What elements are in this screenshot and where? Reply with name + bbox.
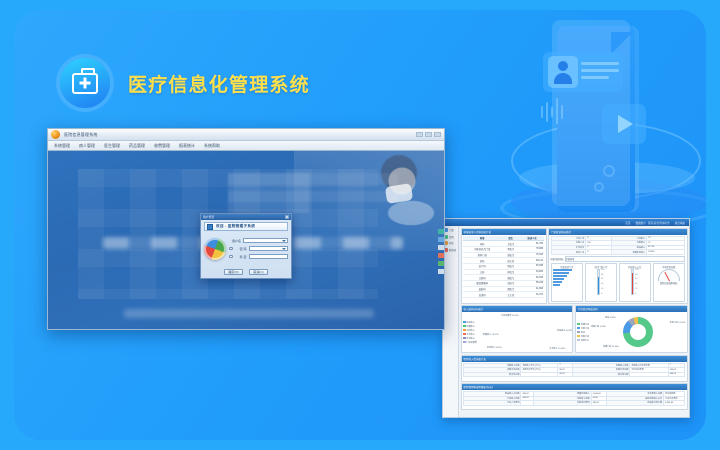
menu-item-system[interactable]: 系统管理 (54, 143, 70, 149)
hospital-icon (207, 224, 213, 230)
legend-item: 检查收入 (463, 325, 477, 328)
kpi-filter-select[interactable]: 全部科室 (565, 256, 685, 262)
decorative-id-card (543, 52, 623, 92)
legend-item: 体检中心 (577, 339, 589, 342)
blue-thermometer-gauge: 当月门诊人次 100 80 60 40 (585, 263, 618, 302)
red-thermometer-gauge: 药品收入占比 100 80 60 40 (619, 263, 652, 302)
department-label: 科 室 (235, 255, 247, 259)
bar-row (553, 278, 582, 280)
bar-row (553, 269, 582, 271)
gauge-footer: 医院运营效率指标 (660, 281, 678, 285)
decorative-wave-bar (556, 98, 558, 124)
legend-item: 特需门诊 (577, 335, 589, 338)
bar-row (553, 284, 582, 286)
decorative-ring (511, 122, 701, 200)
poster-frame: 医疗信息化管理系统 首页 数据统计 · 医院 综合查询平台 退出系统 门诊 住院 (14, 10, 706, 440)
dialog-footer[interactable]: 确定(O) 取消(C) (201, 266, 291, 278)
watermark-text (228, 173, 398, 213)
dashboard-window[interactable]: 首页 数据统计 · 医院 综合查询平台 退出系统 门诊 住院 (442, 218, 690, 418)
bar-row (553, 272, 582, 274)
thermometer-track (597, 269, 600, 295)
page-root: 医疗信息化管理系统 首页 数据统计 · 医院 综合查询平台 退出系统 门诊 住院 (0, 0, 720, 450)
menu-item-doctor[interactable]: 医生管理 (104, 143, 120, 149)
topbar-item-title: 数据统计 · 医院 综合查询平台 (635, 221, 669, 225)
bar-list-gauge: 月度就诊人次 (551, 263, 584, 302)
legend-item: 床位收入 (463, 337, 477, 340)
decorative-wave-bar (551, 107, 553, 117)
pie-label: 药品收入 48.28% (557, 329, 572, 332)
menu-item-help[interactable]: 系统帮助 (204, 143, 220, 149)
windows-orb-icon (204, 238, 226, 260)
brand-header: 医疗信息化管理系统 (60, 58, 310, 108)
sidebar-item-label: 门诊 (449, 228, 454, 232)
panel-visit-donut: 门诊就诊构成分析 普通门诊 专家门诊 急诊 特需门诊 体检中心 (575, 305, 688, 353)
blurred-status-band (124, 309, 374, 318)
dial-face (658, 269, 680, 281)
decorative-wave-bar (541, 106, 543, 118)
table-row: 门诊人次费用 住院床日费用 486,96 药品收支结余额 4,866,86 (464, 401, 685, 406)
right-color-strip (438, 225, 444, 330)
decorative-band (519, 162, 695, 194)
panel-cost-detail: 医院费用构成明细表(万元) 药品收入占比额 486,96 检查化验收入 4,64… (461, 383, 688, 410)
department-input[interactable] (249, 254, 289, 260)
strip-chip (438, 237, 444, 242)
legend-item: 门诊诊查费 (463, 341, 477, 344)
menu-item-billing[interactable]: 收费管理 (154, 143, 170, 149)
kpi-filter-label: 科室化验指标 (551, 257, 564, 261)
username-input[interactable] (243, 238, 288, 244)
decorative-wave-bar (561, 105, 563, 119)
income-detail-table: 本期收入总额 本期收入合计(万元) 9 本期收入总额 本期收入同比增长率 7 本… (463, 363, 685, 378)
kpi-table: 门诊人次 8 门诊收入 78 住院人次 100 住院收入 (551, 236, 686, 255)
menu-item-patient[interactable]: 病人管理 (79, 143, 95, 149)
pie-label: 检查收入 19.47% (483, 333, 499, 336)
decorative-text-line (581, 69, 619, 72)
decorative-dot (603, 165, 615, 177)
legend-item: 药品收入 (463, 321, 477, 324)
field-row-department: 科 室 (229, 254, 288, 260)
strip-chip (438, 245, 444, 250)
strip-chip (438, 229, 444, 234)
pie-label: 手术收入 10.56% (549, 347, 565, 350)
ranking-table: 科室 医生 接诊人次 内科王医生81,786 中医科综合门诊李医生78,980 … (463, 236, 544, 299)
field-row-username: 用户名 (229, 238, 288, 244)
legend-item: 普通门诊 (577, 323, 589, 326)
donut-label: 专家门诊 14.18% (670, 321, 686, 324)
decorative-book-edge (621, 30, 635, 210)
dialog-titlebar[interactable]: 用户登录 (201, 214, 291, 220)
strip-chip (438, 253, 444, 258)
panel-department-ranking: 科室接诊人次排名统计表 科室 医生 接诊人次 内科王医生81, (461, 228, 547, 304)
login-form[interactable]: 用户名 密 码 科 室 (229, 238, 288, 260)
dialog-banner-text: 欢迎 - 医院管理子系统 (216, 224, 255, 229)
app-logo-orb-icon (51, 130, 60, 139)
gauge-scale: 100 80 60 40 20 0 (601, 269, 604, 295)
topbar-item-home[interactable]: 首页 (625, 221, 630, 225)
panel-revenue-pie: 收入结构分布统计 药品收入 检查收入 治疗收入 手术收入 床位收入 门诊诊查费 (461, 305, 574, 353)
dialog-title: 用户登录 (203, 215, 214, 219)
gauge-scale: 100 80 60 40 20 0 (635, 269, 638, 295)
pie-legend: 药品收入 检查收入 治疗收入 手术收入 床位收入 门诊诊查费 (463, 321, 477, 344)
dial-needle (664, 272, 670, 281)
app-menubar[interactable]: 系统管理 病人管理 医生管理 药品管理 收费管理 报表统计 系统帮助 (48, 141, 444, 151)
app-window-title: 医院信息管理系统 (64, 132, 98, 138)
field-row-password: 密 码 (229, 246, 288, 252)
page-title: 医疗信息化管理系统 (128, 70, 310, 97)
menu-item-report[interactable]: 报表统计 (179, 143, 195, 149)
password-label: 密 码 (235, 247, 247, 251)
panel-income-detail: 医院收入情况统计表 本期收入总额 本期收入合计(万元) 9 本期收入总额 本期收… (461, 355, 688, 382)
sidebar-item-lab[interactable]: 检验科 (444, 248, 457, 252)
legend-item: 专家门诊 (577, 327, 589, 330)
sidebar-item-label: 药房 (449, 241, 454, 245)
window-controls[interactable] (416, 132, 441, 137)
password-input[interactable] (249, 246, 289, 252)
app-workspace: 用户登录 欢迎 - 医院管理子系统 用户名 (48, 151, 444, 330)
decorative-dot (594, 182, 604, 192)
decorative-page-fold (611, 32, 633, 54)
topbar-item-logout[interactable]: 退出系统 (675, 221, 685, 225)
pie-label: 门诊诊查费 11.06% (501, 314, 519, 317)
radio-password[interactable] (229, 247, 233, 251)
cost-detail-table: 药品收入占比额 486,96 检查化验收入 4,646,66 床位费收入总额 床… (463, 391, 685, 406)
sidebar-item-pharmacy[interactable]: 药房 (444, 241, 457, 245)
bar-row (553, 281, 582, 283)
play-icon (602, 104, 646, 144)
login-dialog[interactable]: 用户登录 欢迎 - 医院管理子系统 用户名 (200, 213, 292, 279)
maximize-icon[interactable] (425, 132, 432, 137)
donut-chart (623, 317, 653, 347)
panel-kpi-monitor: 门诊就诊指标监控 门诊人次 8 门诊收入 78 (548, 228, 688, 304)
decorative-text-line (581, 76, 609, 79)
dashboard-topbar: 首页 数据统计 · 医院 综合查询平台 退出系统 (443, 219, 689, 226)
radio-department[interactable] (229, 255, 233, 259)
legend-item: 手术收入 (463, 333, 477, 336)
confirm-button[interactable]: 确定(O) (224, 269, 243, 276)
table-row: 急诊人次 8 检查化验收入 18,890 (551, 250, 685, 255)
pie-chart (508, 315, 542, 349)
legend-item: 治疗收入 (463, 329, 477, 332)
close-icon[interactable] (285, 215, 289, 219)
legend-item: 急诊 (577, 331, 589, 334)
decorative-book (557, 26, 635, 212)
minimize-icon[interactable] (416, 132, 423, 137)
sidebar-item-outpatient[interactable]: 门诊 (444, 228, 457, 232)
donut-legend: 普通门诊 专家门诊 急诊 特需门诊 体检中心 (577, 323, 589, 342)
thermometer-track (631, 269, 634, 295)
gauge-bars (553, 269, 582, 286)
cancel-button[interactable]: 取消(C) (249, 269, 268, 276)
dial-gauge: 平均住院天数 医院运营效率指标 (653, 263, 686, 302)
decorative-wave-bar (546, 102, 548, 122)
strip-chip (438, 269, 444, 274)
table-row: 急诊科王主任31,072 (463, 292, 544, 298)
bar-row (553, 275, 582, 277)
donut-label: 特需门诊 5.44% (591, 325, 606, 328)
username-label: 用户名 (229, 239, 241, 243)
pie-label: 治疗收入 9.63% (487, 346, 502, 349)
decorative-text-line (581, 62, 619, 65)
dashboard-sidebar[interactable]: 门诊 住院 药房 检验科 (443, 226, 459, 418)
app-titlebar[interactable]: 医院信息管理系统 (48, 129, 444, 141)
app-window[interactable]: 医院信息管理系统 系统管理 病人管理 医生管理 药品管理 收费管理 报表统计 系… (47, 128, 445, 330)
medical-kit-icon (60, 58, 110, 108)
sidebar-item-label: 检验科 (449, 248, 456, 252)
dialog-banner: 欢迎 - 医院管理子系统 (204, 222, 288, 231)
sidebar-item-label: 住院 (449, 235, 454, 239)
strip-chip (438, 261, 444, 266)
table-row: 收支结余额 88,99 收支结余额 188,98 (464, 372, 685, 377)
donut-label: 普通门诊 74.30% (603, 345, 619, 348)
close-icon[interactable] (434, 132, 441, 137)
person-icon (548, 56, 578, 88)
menu-item-drug[interactable]: 药品管理 (129, 143, 145, 149)
sidebar-item-inpatient[interactable]: 住院 (444, 235, 457, 239)
donut-label: 急诊 6.08% (605, 316, 616, 319)
